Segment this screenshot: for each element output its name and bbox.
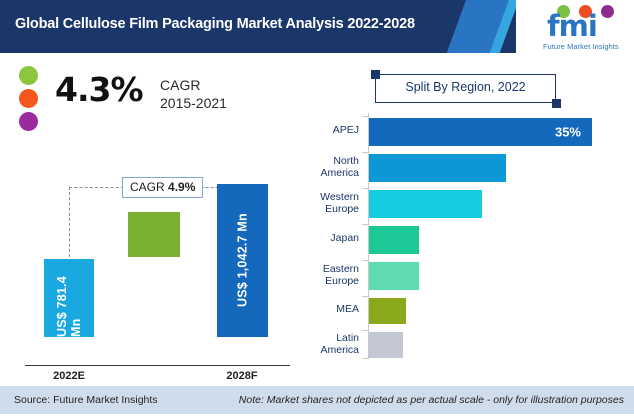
region-label-western-europe: Western Europe	[296, 192, 359, 215]
column-axis-label-2022e: 2022E	[34, 370, 104, 382]
region-row-apej[interactable]: APEJ 35%	[296, 116, 634, 148]
region-bar-north-america[interactable]	[369, 154, 506, 182]
region-row-latin-america[interactable]: Latin America	[296, 330, 634, 360]
region-bar-eastern-europe[interactable]	[369, 262, 419, 290]
region-bar-latin-america[interactable]	[369, 332, 403, 358]
logo-wordmark: fmi	[547, 11, 597, 41]
market-size-column-chart: CAGR 4.9% US$ 781.4 Mn US$ 1,042.7 Mn 20…	[0, 150, 320, 390]
cagr-caption-label: CAGR	[160, 77, 200, 93]
cagr-badge-value: 4.9%	[168, 180, 195, 194]
column-bar-2028f-value: US$ 1,042.7 Mn	[217, 184, 268, 337]
region-label-apej: APEJ	[296, 125, 359, 137]
infographic-root: Global Cellulose Film Packaging Market A…	[0, 0, 634, 418]
cagr-caption-period: 2015-2021	[160, 94, 227, 112]
column-bar-2022e-value: US$ 781.4 Mn	[44, 259, 94, 337]
region-row-north-america[interactable]: North America	[296, 152, 634, 184]
region-tick-mea	[362, 296, 369, 297]
cagr-dots-decoration	[19, 66, 39, 132]
cagr-bracket-left-drop	[69, 187, 70, 262]
region-label-mea: MEA	[296, 304, 359, 316]
green-accent-block	[128, 212, 180, 257]
region-title-corner-top-left-icon	[371, 70, 380, 79]
cagr-caption: CAGR 2015-2021	[160, 76, 227, 112]
region-tick-japan	[362, 224, 369, 225]
column-bar-2022e[interactable]: US$ 781.4 Mn	[44, 259, 94, 337]
region-bar-japan[interactable]	[369, 226, 419, 254]
region-title-corner-bottom-right-icon	[552, 99, 561, 108]
region-value-apej: 35%	[555, 125, 581, 140]
cagr-badge-label: CAGR	[130, 180, 165, 194]
region-split-bar-chart: Split By Region, 2022 APEJ 35% North Ame…	[296, 64, 634, 364]
region-bar-western-europe[interactable]	[369, 190, 482, 218]
region-row-western-europe[interactable]: Western Europe	[296, 188, 634, 220]
column-bar-2028f[interactable]: US$ 1,042.7 Mn	[217, 184, 268, 337]
region-tick-apej	[362, 116, 369, 117]
region-bar-apej[interactable]: 35%	[369, 118, 592, 146]
column-axis-label-2028f: 2028F	[207, 370, 277, 382]
region-chart-title: Split By Region, 2022	[375, 80, 556, 94]
region-row-mea[interactable]: MEA	[296, 296, 634, 326]
region-row-japan[interactable]: Japan	[296, 224, 634, 256]
logo-tagline: Future Market Insights	[543, 42, 619, 51]
region-tick-eastern-europe	[362, 260, 369, 261]
region-bar-mea[interactable]	[369, 298, 406, 324]
footer-bar: Source: Future Market Insights Note: Mar…	[0, 386, 634, 414]
region-label-latin-america: Latin America	[296, 333, 359, 356]
region-label-north-america: North America	[296, 156, 359, 179]
region-tick-western-europe	[362, 188, 369, 189]
cagr-value: 4.3%	[55, 72, 143, 108]
footer-note: Note: Market shares not depicted as per …	[239, 394, 624, 406]
cagr-bracket-top-left	[69, 187, 124, 188]
page-title: Global Cellulose Film Packaging Market A…	[15, 16, 455, 32]
region-label-eastern-europe: Eastern Europe	[296, 264, 359, 287]
highlight-dot-orange-icon	[19, 89, 38, 108]
cagr-badge: CAGR 4.9%	[122, 177, 203, 198]
footer-source: Source: Future Market Insights	[14, 394, 158, 406]
region-label-japan: Japan	[296, 233, 359, 245]
column-chart-axis	[25, 365, 290, 366]
fmi-logo: fmi Future Market Insights	[525, 3, 629, 51]
region-tick-latin-america	[362, 330, 369, 331]
region-tick-north-america	[362, 152, 369, 153]
region-row-eastern-europe[interactable]: Eastern Europe	[296, 260, 634, 292]
logo-dot-purple-icon	[601, 5, 614, 18]
highlight-dot-purple-icon	[19, 112, 38, 131]
highlight-dot-green-icon	[19, 66, 38, 85]
region-tick-axis-end	[362, 358, 369, 359]
